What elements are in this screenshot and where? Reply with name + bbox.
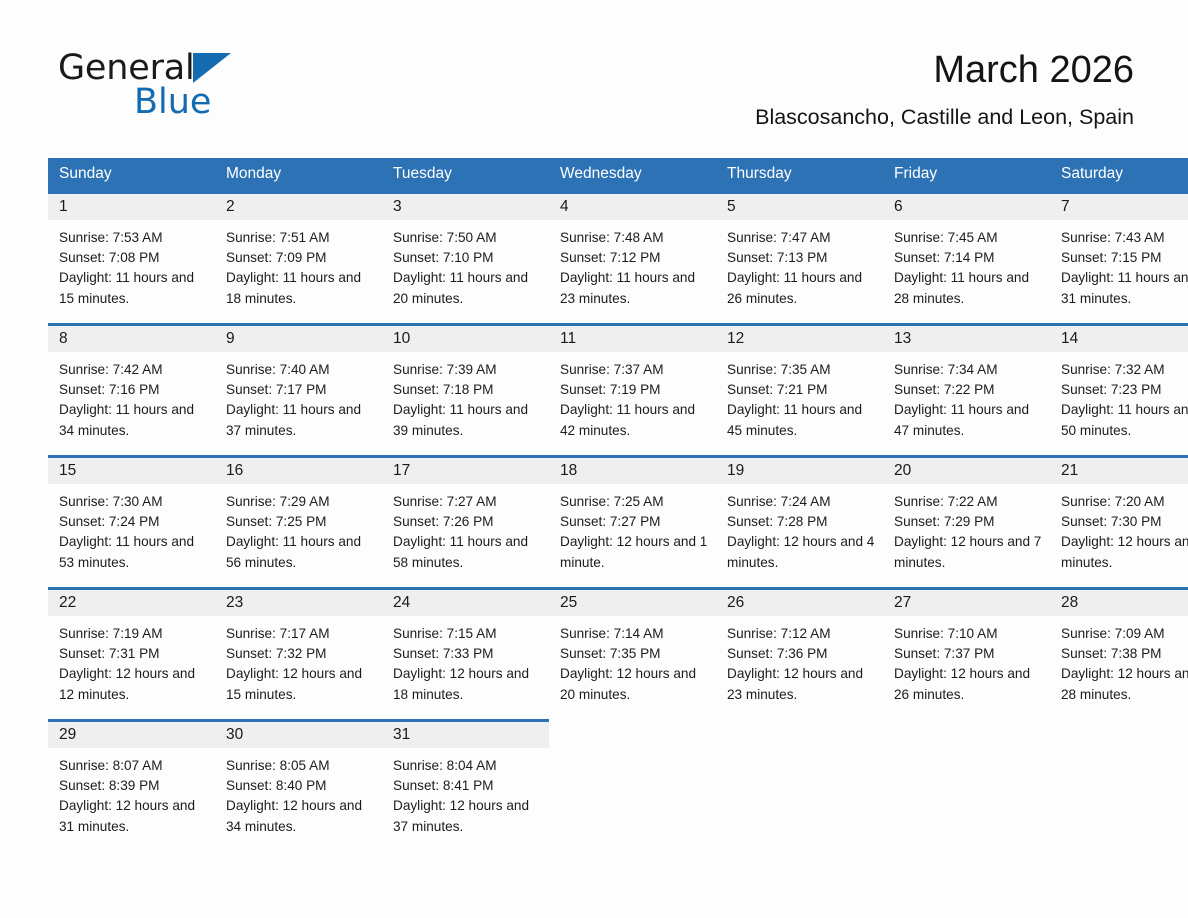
daylight-text: Daylight: 12 hours and 9 minutes. — [1061, 532, 1188, 572]
calendar-day-cell[interactable]: 7Sunrise: 7:43 AMSunset: 7:15 PMDaylight… — [1050, 191, 1188, 310]
week-spacer-cell — [716, 442, 883, 455]
day-number-band: 12 — [716, 323, 883, 352]
sunrise-text: Sunrise: 7:43 AM — [1061, 228, 1188, 248]
week-spacer-cell — [48, 706, 215, 719]
daylight-text: Daylight: 11 hours and 18 minutes. — [226, 268, 374, 308]
week-spacer-cell — [549, 442, 716, 455]
calendar-day-cell[interactable]: 29Sunrise: 8:07 AMSunset: 8:39 PMDayligh… — [48, 719, 215, 838]
daylight-text: Daylight: 12 hours and 18 minutes. — [393, 664, 541, 704]
daylight-text: Daylight: 11 hours and 31 minutes. — [1061, 268, 1188, 308]
sunset-text: Sunset: 7:10 PM — [393, 248, 541, 268]
sunrise-text: Sunrise: 7:50 AM — [393, 228, 541, 248]
day-number-band: 31 — [382, 719, 549, 748]
week-spacer-cell — [883, 442, 1050, 455]
calendar-day-cell-empty — [549, 719, 716, 838]
day-cell-inner: 31Sunrise: 8:04 AMSunset: 8:41 PMDayligh… — [382, 719, 549, 838]
day-number-band: 23 — [215, 587, 382, 616]
calendar-day-cell[interactable]: 10Sunrise: 7:39 AMSunset: 7:18 PMDayligh… — [382, 323, 549, 442]
daylight-text: Daylight: 11 hours and 26 minutes. — [727, 268, 875, 308]
day-number: 9 — [226, 330, 235, 347]
day-details: Sunrise: 7:50 AMSunset: 7:10 PMDaylight:… — [382, 220, 549, 309]
day-cell-inner: 11Sunrise: 7:37 AMSunset: 7:19 PMDayligh… — [549, 323, 716, 442]
sunset-text: Sunset: 7:08 PM — [59, 248, 207, 268]
calendar-day-cell[interactable]: 12Sunrise: 7:35 AMSunset: 7:21 PMDayligh… — [716, 323, 883, 442]
week-spacer-cell — [48, 574, 215, 587]
week-spacer-cell — [382, 574, 549, 587]
week-spacer-cell — [382, 442, 549, 455]
sunset-text: Sunset: 7:36 PM — [727, 644, 875, 664]
daylight-text: Daylight: 11 hours and 50 minutes. — [1061, 400, 1188, 440]
day-number-band: 13 — [883, 323, 1050, 352]
weekday-header-wednesday: Wednesday — [549, 158, 716, 191]
day-number: 16 — [226, 462, 243, 479]
day-details: Sunrise: 7:20 AMSunset: 7:30 PMDaylight:… — [1050, 484, 1188, 573]
sunset-text: Sunset: 7:33 PM — [393, 644, 541, 664]
sunrise-text: Sunrise: 7:10 AM — [894, 624, 1042, 644]
day-details: Sunrise: 7:53 AMSunset: 7:08 PMDaylight:… — [48, 220, 215, 309]
day-details: Sunrise: 7:10 AMSunset: 7:37 PMDaylight:… — [883, 616, 1050, 705]
day-number: 1 — [59, 198, 68, 215]
daylight-text: Daylight: 11 hours and 42 minutes. — [560, 400, 708, 440]
calendar-day-cell-empty — [716, 719, 883, 838]
sunrise-text: Sunrise: 8:07 AM — [59, 756, 207, 776]
day-number: 25 — [560, 594, 577, 611]
sunrise-text: Sunrise: 7:27 AM — [393, 492, 541, 512]
sunset-text: Sunset: 7:19 PM — [560, 380, 708, 400]
day-number-band: 11 — [549, 323, 716, 352]
day-number: 17 — [393, 462, 410, 479]
sunrise-text: Sunrise: 7:14 AM — [560, 624, 708, 644]
calendar-day-cell[interactable]: 19Sunrise: 7:24 AMSunset: 7:28 PMDayligh… — [716, 455, 883, 574]
day-cell-inner: 19Sunrise: 7:24 AMSunset: 7:28 PMDayligh… — [716, 455, 883, 574]
sunset-text: Sunset: 8:39 PM — [59, 776, 207, 796]
day-details: Sunrise: 7:42 AMSunset: 7:16 PMDaylight:… — [48, 352, 215, 441]
day-details: Sunrise: 7:24 AMSunset: 7:28 PMDaylight:… — [716, 484, 883, 573]
calendar-week-row: 1Sunrise: 7:53 AMSunset: 7:08 PMDaylight… — [48, 191, 1188, 310]
daylight-text: Daylight: 12 hours and 1 minute. — [560, 532, 708, 572]
day-number-band: 17 — [382, 455, 549, 484]
day-number: 2 — [226, 198, 235, 215]
calendar-day-cell[interactable]: 17Sunrise: 7:27 AMSunset: 7:26 PMDayligh… — [382, 455, 549, 574]
day-cell-inner: 4Sunrise: 7:48 AMSunset: 7:12 PMDaylight… — [549, 191, 716, 310]
week-spacer-cell — [1050, 574, 1188, 587]
logo-text-general: General — [58, 48, 195, 88]
day-number-band: 6 — [883, 191, 1050, 220]
week-spacer-cell — [716, 706, 883, 719]
daylight-text: Daylight: 12 hours and 26 minutes. — [894, 664, 1042, 704]
day-number-band: 7 — [1050, 191, 1188, 220]
day-number-band: 19 — [716, 455, 883, 484]
calendar-week-row: 8Sunrise: 7:42 AMSunset: 7:16 PMDaylight… — [48, 323, 1188, 442]
day-number: 29 — [59, 726, 76, 743]
sunset-text: Sunset: 7:25 PM — [226, 512, 374, 532]
day-number-band: 3 — [382, 191, 549, 220]
daylight-text: Daylight: 11 hours and 56 minutes. — [226, 532, 374, 572]
day-cell-inner: 26Sunrise: 7:12 AMSunset: 7:36 PMDayligh… — [716, 587, 883, 706]
sunrise-text: Sunrise: 7:22 AM — [894, 492, 1042, 512]
day-details: Sunrise: 7:32 AMSunset: 7:23 PMDaylight:… — [1050, 352, 1188, 441]
sunrise-text: Sunrise: 7:40 AM — [226, 360, 374, 380]
day-cell-inner: 7Sunrise: 7:43 AMSunset: 7:15 PMDaylight… — [1050, 191, 1188, 310]
day-cell-inner: 9Sunrise: 7:40 AMSunset: 7:17 PMDaylight… — [215, 323, 382, 442]
day-number: 20 — [894, 462, 911, 479]
daylight-text: Daylight: 11 hours and 15 minutes. — [59, 268, 207, 308]
day-number: 15 — [59, 462, 76, 479]
sunrise-text: Sunrise: 7:15 AM — [393, 624, 541, 644]
calendar-day-cell[interactable]: 9Sunrise: 7:40 AMSunset: 7:17 PMDaylight… — [215, 323, 382, 442]
sunset-text: Sunset: 7:26 PM — [393, 512, 541, 532]
day-number-band: 9 — [215, 323, 382, 352]
daylight-text: Daylight: 12 hours and 15 minutes. — [226, 664, 374, 704]
daylight-text: Daylight: 11 hours and 47 minutes. — [894, 400, 1042, 440]
day-cell-inner: 16Sunrise: 7:29 AMSunset: 7:25 PMDayligh… — [215, 455, 382, 574]
daylight-text: Daylight: 11 hours and 45 minutes. — [727, 400, 875, 440]
daylight-text: Daylight: 11 hours and 53 minutes. — [59, 532, 207, 572]
sunset-text: Sunset: 7:37 PM — [894, 644, 1042, 664]
daylight-text: Daylight: 11 hours and 37 minutes. — [226, 400, 374, 440]
day-cell-inner: 30Sunrise: 8:05 AMSunset: 8:40 PMDayligh… — [215, 719, 382, 838]
day-cell-inner: 20Sunrise: 7:22 AMSunset: 7:29 PMDayligh… — [883, 455, 1050, 574]
week-spacer-cell — [716, 310, 883, 323]
sunrise-text: Sunrise: 7:29 AM — [226, 492, 374, 512]
week-spacer-cell — [382, 706, 549, 719]
day-number-band: 1 — [48, 191, 215, 220]
daylight-text: Daylight: 11 hours and 34 minutes. — [59, 400, 207, 440]
sunrise-text: Sunrise: 7:47 AM — [727, 228, 875, 248]
day-cell-inner: 27Sunrise: 7:10 AMSunset: 7:37 PMDayligh… — [883, 587, 1050, 706]
sunrise-text: Sunrise: 7:17 AM — [226, 624, 374, 644]
daylight-text: Daylight: 12 hours and 28 minutes. — [1061, 664, 1188, 704]
calendar-day-cell[interactable]: 8Sunrise: 7:42 AMSunset: 7:16 PMDaylight… — [48, 323, 215, 442]
day-number: 22 — [59, 594, 76, 611]
day-number: 19 — [727, 462, 744, 479]
day-cell-inner: 13Sunrise: 7:34 AMSunset: 7:22 PMDayligh… — [883, 323, 1050, 442]
day-number-band: 26 — [716, 587, 883, 616]
sunset-text: Sunset: 7:30 PM — [1061, 512, 1188, 532]
day-details: Sunrise: 7:34 AMSunset: 7:22 PMDaylight:… — [883, 352, 1050, 441]
day-cell-inner: 8Sunrise: 7:42 AMSunset: 7:16 PMDaylight… — [48, 323, 215, 442]
week-spacer-cell — [48, 310, 215, 323]
calendar-day-cell[interactable]: 5Sunrise: 7:47 AMSunset: 7:13 PMDaylight… — [716, 191, 883, 310]
day-number-band: 20 — [883, 455, 1050, 484]
calendar-day-cell-empty — [1050, 719, 1188, 838]
day-number: 28 — [1061, 594, 1078, 611]
day-cell-inner: 25Sunrise: 7:14 AMSunset: 7:35 PMDayligh… — [549, 587, 716, 706]
day-number-band: 16 — [215, 455, 382, 484]
day-number: 6 — [894, 198, 903, 215]
day-cell-inner: 5Sunrise: 7:47 AMSunset: 7:13 PMDaylight… — [716, 191, 883, 310]
week-spacer-cell — [1050, 310, 1188, 323]
day-cell-inner: 2Sunrise: 7:51 AMSunset: 7:09 PMDaylight… — [215, 191, 382, 310]
page-subtitle: Blascosancho, Castille and Leon, Spain — [755, 102, 1134, 132]
day-details: Sunrise: 7:35 AMSunset: 7:21 PMDaylight:… — [716, 352, 883, 441]
day-number: 5 — [727, 198, 736, 215]
sunrise-text: Sunrise: 7:48 AM — [560, 228, 708, 248]
generalblue-logo[interactable]: General Blue — [58, 48, 328, 128]
daylight-text: Daylight: 12 hours and 4 minutes. — [727, 532, 875, 572]
day-details: Sunrise: 7:45 AMSunset: 7:14 PMDaylight:… — [883, 220, 1050, 309]
day-cell-inner: 18Sunrise: 7:25 AMSunset: 7:27 PMDayligh… — [549, 455, 716, 574]
day-cell-inner: 21Sunrise: 7:20 AMSunset: 7:30 PMDayligh… — [1050, 455, 1188, 574]
calendar-day-cell-empty — [883, 719, 1050, 838]
day-cell-inner: 15Sunrise: 7:30 AMSunset: 7:24 PMDayligh… — [48, 455, 215, 574]
day-details: Sunrise: 7:09 AMSunset: 7:38 PMDaylight:… — [1050, 616, 1188, 705]
week-spacer-row — [48, 442, 1188, 455]
daylight-text: Daylight: 11 hours and 28 minutes. — [894, 268, 1042, 308]
calendar-day-cell[interactable]: 18Sunrise: 7:25 AMSunset: 7:27 PMDayligh… — [549, 455, 716, 574]
calendar-header-row: Sunday Monday Tuesday Wednesday Thursday… — [48, 158, 1188, 191]
week-spacer-row — [48, 574, 1188, 587]
day-details: Sunrise: 7:40 AMSunset: 7:17 PMDaylight:… — [215, 352, 382, 441]
calendar-day-cell[interactable]: 2Sunrise: 7:51 AMSunset: 7:09 PMDaylight… — [215, 191, 382, 310]
sunrise-text: Sunrise: 7:32 AM — [1061, 360, 1188, 380]
daylight-text: Daylight: 12 hours and 12 minutes. — [59, 664, 207, 704]
sunrise-text: Sunrise: 8:04 AM — [393, 756, 541, 776]
day-number: 27 — [894, 594, 911, 611]
sunrise-text: Sunrise: 7:45 AM — [894, 228, 1042, 248]
logo-triangle-icon — [193, 53, 231, 83]
day-details: Sunrise: 7:47 AMSunset: 7:13 PMDaylight:… — [716, 220, 883, 309]
day-number: 18 — [560, 462, 577, 479]
day-cell-inner: 28Sunrise: 7:09 AMSunset: 7:38 PMDayligh… — [1050, 587, 1188, 706]
day-number: 11 — [560, 330, 576, 347]
day-number: 31 — [393, 726, 410, 743]
sunrise-text: Sunrise: 7:35 AM — [727, 360, 875, 380]
day-number-band: 27 — [883, 587, 1050, 616]
calendar-day-cell[interactable]: 15Sunrise: 7:30 AMSunset: 7:24 PMDayligh… — [48, 455, 215, 574]
day-details: Sunrise: 8:05 AMSunset: 8:40 PMDaylight:… — [215, 748, 382, 837]
day-number: 23 — [226, 594, 243, 611]
daylight-text: Daylight: 12 hours and 20 minutes. — [560, 664, 708, 704]
sunrise-text: Sunrise: 7:51 AM — [226, 228, 374, 248]
daylight-text: Daylight: 11 hours and 39 minutes. — [393, 400, 541, 440]
calendar-day-cell[interactable]: 1Sunrise: 7:53 AMSunset: 7:08 PMDaylight… — [48, 191, 215, 310]
week-spacer-cell — [549, 574, 716, 587]
daylight-text: Daylight: 11 hours and 23 minutes. — [560, 268, 708, 308]
calendar-body: 1Sunrise: 7:53 AMSunset: 7:08 PMDaylight… — [48, 191, 1188, 838]
day-number: 12 — [727, 330, 744, 347]
calendar-day-cell[interactable]: 21Sunrise: 7:20 AMSunset: 7:30 PMDayligh… — [1050, 455, 1188, 574]
day-details: Sunrise: 8:07 AMSunset: 8:39 PMDaylight:… — [48, 748, 215, 837]
day-cell-inner: 1Sunrise: 7:53 AMSunset: 7:08 PMDaylight… — [48, 191, 215, 310]
day-details: Sunrise: 7:39 AMSunset: 7:18 PMDaylight:… — [382, 352, 549, 441]
calendar-day-cell[interactable]: 11Sunrise: 7:37 AMSunset: 7:19 PMDayligh… — [549, 323, 716, 442]
week-spacer-cell — [48, 442, 215, 455]
weekday-header-monday: Monday — [215, 158, 382, 191]
sunset-text: Sunset: 7:18 PM — [393, 380, 541, 400]
sunrise-text: Sunrise: 7:09 AM — [1061, 624, 1188, 644]
weekday-header-saturday: Saturday — [1050, 158, 1188, 191]
sunset-text: Sunset: 7:13 PM — [727, 248, 875, 268]
day-number-band: 24 — [382, 587, 549, 616]
week-spacer-cell — [549, 706, 716, 719]
logo-top-row: General — [58, 48, 328, 88]
sunrise-text: Sunrise: 7:25 AM — [560, 492, 708, 512]
day-number-band: 18 — [549, 455, 716, 484]
calendar-day-cell[interactable]: 3Sunrise: 7:50 AMSunset: 7:10 PMDaylight… — [382, 191, 549, 310]
day-cell-inner: 24Sunrise: 7:15 AMSunset: 7:33 PMDayligh… — [382, 587, 549, 706]
page-title: March 2026 — [755, 48, 1134, 92]
week-spacer-cell — [215, 310, 382, 323]
sunrise-text: Sunrise: 7:24 AM — [727, 492, 875, 512]
sunset-text: Sunset: 7:31 PM — [59, 644, 207, 664]
calendar-week-row: 22Sunrise: 7:19 AMSunset: 7:31 PMDayligh… — [48, 587, 1188, 706]
sunset-text: Sunset: 7:15 PM — [1061, 248, 1188, 268]
weekday-header-sunday: Sunday — [48, 158, 215, 191]
sunset-text: Sunset: 7:21 PM — [727, 380, 875, 400]
title-block: March 2026 Blascosancho, Castille and Le… — [755, 48, 1134, 132]
sunset-text: Sunset: 7:12 PM — [560, 248, 708, 268]
sunset-text: Sunset: 7:16 PM — [59, 380, 207, 400]
daylight-text: Daylight: 12 hours and 37 minutes. — [393, 796, 541, 836]
week-spacer-cell — [215, 442, 382, 455]
day-number: 14 — [1061, 330, 1078, 347]
day-number-band: 21 — [1050, 455, 1188, 484]
day-details: Sunrise: 7:43 AMSunset: 7:15 PMDaylight:… — [1050, 220, 1188, 309]
sunrise-text: Sunrise: 7:30 AM — [59, 492, 207, 512]
sunrise-text: Sunrise: 7:34 AM — [894, 360, 1042, 380]
day-number: 3 — [393, 198, 402, 215]
sunrise-text: Sunrise: 7:19 AM — [59, 624, 207, 644]
sunset-text: Sunset: 7:32 PM — [226, 644, 374, 664]
day-details: Sunrise: 7:30 AMSunset: 7:24 PMDaylight:… — [48, 484, 215, 573]
sunrise-text: Sunrise: 7:20 AM — [1061, 492, 1188, 512]
week-spacer-cell — [883, 574, 1050, 587]
daylight-text: Daylight: 11 hours and 58 minutes. — [393, 532, 541, 572]
calendar-grid: Sunday Monday Tuesday Wednesday Thursday… — [48, 158, 1140, 838]
week-spacer-cell — [1050, 442, 1188, 455]
day-number-band: 14 — [1050, 323, 1188, 352]
day-details: Sunrise: 7:37 AMSunset: 7:19 PMDaylight:… — [549, 352, 716, 441]
day-number-band: 30 — [215, 719, 382, 748]
day-details: Sunrise: 7:51 AMSunset: 7:09 PMDaylight:… — [215, 220, 382, 309]
sunrise-text: Sunrise: 7:12 AM — [727, 624, 875, 644]
sunset-text: Sunset: 7:29 PM — [894, 512, 1042, 532]
day-number-band: 28 — [1050, 587, 1188, 616]
sunset-text: Sunset: 7:23 PM — [1061, 380, 1188, 400]
day-number: 26 — [727, 594, 744, 611]
sunrise-text: Sunrise: 7:53 AM — [59, 228, 207, 248]
day-cell-inner: 29Sunrise: 8:07 AMSunset: 8:39 PMDayligh… — [48, 719, 215, 838]
calendar-day-cell[interactable]: 13Sunrise: 7:34 AMSunset: 7:22 PMDayligh… — [883, 323, 1050, 442]
day-number-band: 29 — [48, 719, 215, 748]
week-spacer-cell — [382, 310, 549, 323]
day-number-band: 10 — [382, 323, 549, 352]
sunset-text: Sunset: 7:28 PM — [727, 512, 875, 532]
calendar-day-cell[interactable]: 6Sunrise: 7:45 AMSunset: 7:14 PMDaylight… — [883, 191, 1050, 310]
day-number-band: 2 — [215, 191, 382, 220]
week-spacer-row — [48, 706, 1188, 719]
calendar-day-cell[interactable]: 22Sunrise: 7:19 AMSunset: 7:31 PMDayligh… — [48, 587, 215, 706]
day-cell-inner: 23Sunrise: 7:17 AMSunset: 7:32 PMDayligh… — [215, 587, 382, 706]
day-number-band: 8 — [48, 323, 215, 352]
calendar-day-cell[interactable]: 28Sunrise: 7:09 AMSunset: 7:38 PMDayligh… — [1050, 587, 1188, 706]
day-number: 21 — [1061, 462, 1078, 479]
day-number-band: 25 — [549, 587, 716, 616]
calendar-week-row: 29Sunrise: 8:07 AMSunset: 8:39 PMDayligh… — [48, 719, 1188, 838]
daylight-text: Daylight: 12 hours and 7 minutes. — [894, 532, 1042, 572]
day-details: Sunrise: 7:48 AMSunset: 7:12 PMDaylight:… — [549, 220, 716, 309]
week-spacer-row — [48, 310, 1188, 323]
calendar-day-cell[interactable]: 24Sunrise: 7:15 AMSunset: 7:33 PMDayligh… — [382, 587, 549, 706]
day-details: Sunrise: 7:17 AMSunset: 7:32 PMDaylight:… — [215, 616, 382, 705]
calendar-day-cell[interactable]: 4Sunrise: 7:48 AMSunset: 7:12 PMDaylight… — [549, 191, 716, 310]
day-number: 24 — [393, 594, 410, 611]
day-number-band: 4 — [549, 191, 716, 220]
sunset-text: Sunset: 8:40 PM — [226, 776, 374, 796]
calendar-day-cell[interactable]: 27Sunrise: 7:10 AMSunset: 7:37 PMDayligh… — [883, 587, 1050, 706]
week-spacer-cell — [1050, 706, 1188, 719]
calendar-day-cell[interactable]: 26Sunrise: 7:12 AMSunset: 7:36 PMDayligh… — [716, 587, 883, 706]
day-details: Sunrise: 7:29 AMSunset: 7:25 PMDaylight:… — [215, 484, 382, 573]
daylight-text: Daylight: 11 hours and 20 minutes. — [393, 268, 541, 308]
calendar-day-cell[interactable]: 20Sunrise: 7:22 AMSunset: 7:29 PMDayligh… — [883, 455, 1050, 574]
calendar-week-row: 15Sunrise: 7:30 AMSunset: 7:24 PMDayligh… — [48, 455, 1188, 574]
day-number: 13 — [894, 330, 911, 347]
sunset-text: Sunset: 7:38 PM — [1061, 644, 1188, 664]
day-details: Sunrise: 8:04 AMSunset: 8:41 PMDaylight:… — [382, 748, 549, 837]
calendar-day-cell[interactable]: 25Sunrise: 7:14 AMSunset: 7:35 PMDayligh… — [549, 587, 716, 706]
day-cell-inner: 12Sunrise: 7:35 AMSunset: 7:21 PMDayligh… — [716, 323, 883, 442]
logo-text-blue: Blue — [134, 84, 328, 120]
day-number: 10 — [393, 330, 410, 347]
week-spacer-cell — [883, 310, 1050, 323]
day-details: Sunrise: 7:22 AMSunset: 7:29 PMDaylight:… — [883, 484, 1050, 573]
weekday-header-thursday: Thursday — [716, 158, 883, 191]
day-details: Sunrise: 7:25 AMSunset: 7:27 PMDaylight:… — [549, 484, 716, 573]
day-number: 7 — [1061, 198, 1070, 215]
sunset-text: Sunset: 7:14 PM — [894, 248, 1042, 268]
calendar-day-cell[interactable]: 31Sunrise: 8:04 AMSunset: 8:41 PMDayligh… — [382, 719, 549, 838]
day-details: Sunrise: 7:19 AMSunset: 7:31 PMDaylight:… — [48, 616, 215, 705]
sunrise-text: Sunrise: 8:05 AM — [226, 756, 374, 776]
day-number-band: 22 — [48, 587, 215, 616]
week-spacer-cell — [716, 574, 883, 587]
calendar-day-cell[interactable]: 16Sunrise: 7:29 AMSunset: 7:25 PMDayligh… — [215, 455, 382, 574]
weekday-header-tuesday: Tuesday — [382, 158, 549, 191]
day-number: 8 — [59, 330, 68, 347]
week-spacer-cell — [215, 574, 382, 587]
page-header: General Blue March 2026 Blascosancho, Ca… — [0, 0, 1188, 110]
day-number: 30 — [226, 726, 243, 743]
sunset-text: Sunset: 7:35 PM — [560, 644, 708, 664]
day-cell-inner: 14Sunrise: 7:32 AMSunset: 7:23 PMDayligh… — [1050, 323, 1188, 442]
calendar-day-cell[interactable]: 14Sunrise: 7:32 AMSunset: 7:23 PMDayligh… — [1050, 323, 1188, 442]
day-details: Sunrise: 7:12 AMSunset: 7:36 PMDaylight:… — [716, 616, 883, 705]
week-spacer-cell — [215, 706, 382, 719]
weekday-header-friday: Friday — [883, 158, 1050, 191]
week-spacer-cell — [549, 310, 716, 323]
calendar-day-cell[interactable]: 23Sunrise: 7:17 AMSunset: 7:32 PMDayligh… — [215, 587, 382, 706]
day-number: 4 — [560, 198, 569, 215]
daylight-text: Daylight: 12 hours and 23 minutes. — [727, 664, 875, 704]
calendar-day-cell[interactable]: 30Sunrise: 8:05 AMSunset: 8:40 PMDayligh… — [215, 719, 382, 838]
calendar-page: General Blue March 2026 Blascosancho, Ca… — [0, 0, 1188, 918]
week-spacer-cell — [883, 706, 1050, 719]
daylight-text: Daylight: 12 hours and 34 minutes. — [226, 796, 374, 836]
sunset-text: Sunset: 8:41 PM — [393, 776, 541, 796]
sunrise-text: Sunrise: 7:39 AM — [393, 360, 541, 380]
day-number-band: 15 — [48, 455, 215, 484]
sunset-text: Sunset: 7:27 PM — [560, 512, 708, 532]
day-cell-inner: 10Sunrise: 7:39 AMSunset: 7:18 PMDayligh… — [382, 323, 549, 442]
calendar-table: Sunday Monday Tuesday Wednesday Thursday… — [48, 158, 1188, 838]
day-number-band: 5 — [716, 191, 883, 220]
day-cell-inner: 22Sunrise: 7:19 AMSunset: 7:31 PMDayligh… — [48, 587, 215, 706]
day-details: Sunrise: 7:14 AMSunset: 7:35 PMDaylight:… — [549, 616, 716, 705]
day-cell-inner: 17Sunrise: 7:27 AMSunset: 7:26 PMDayligh… — [382, 455, 549, 574]
day-cell-inner: 6Sunrise: 7:45 AMSunset: 7:14 PMDaylight… — [883, 191, 1050, 310]
